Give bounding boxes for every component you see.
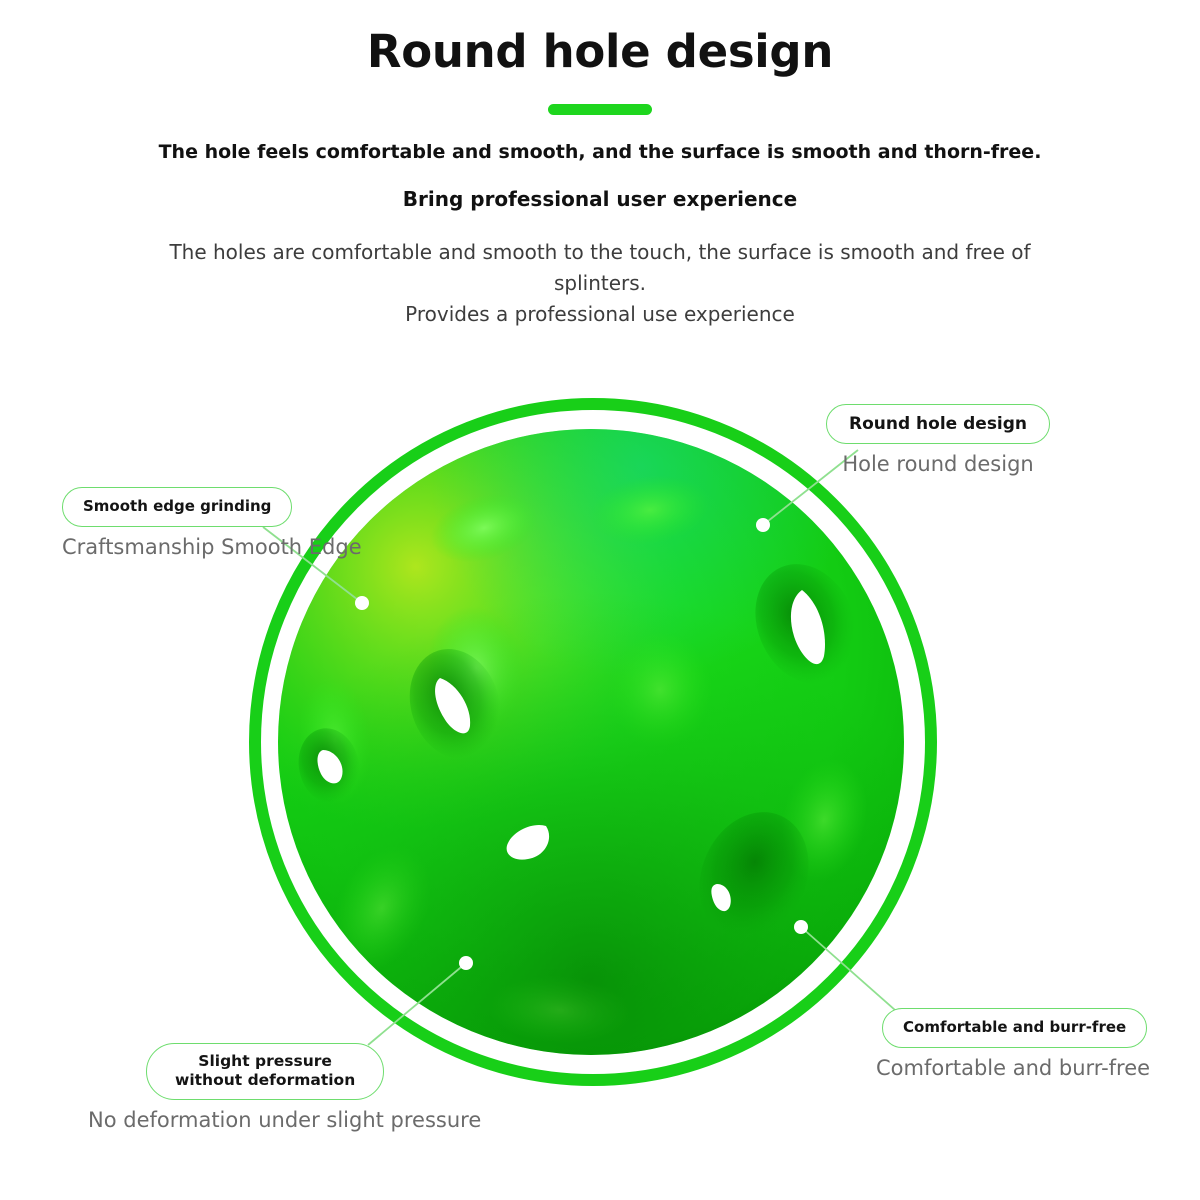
callout-round-hole-design-pill[interactable]: Round hole design bbox=[826, 404, 1050, 444]
callout-comfortable-burr-free[interactable]: Comfortable and burr-free Comfortable an… bbox=[882, 1008, 1150, 1081]
marker-burr-free bbox=[794, 920, 808, 934]
callout-round-hole-design[interactable]: Round hole design Hole round design bbox=[826, 404, 1050, 477]
marker-round-hole bbox=[756, 518, 770, 532]
callout-comfortable-burr-free-pill[interactable]: Comfortable and burr-free bbox=[882, 1008, 1147, 1048]
marker-slight-pressure bbox=[459, 956, 473, 970]
callout-slight-pressure[interactable]: Slight pressure without deformation No d… bbox=[146, 1043, 481, 1133]
callout-smooth-edge-grinding[interactable]: Smooth edge grinding Craftsmanship Smoot… bbox=[62, 487, 362, 560]
marker-smooth-edge bbox=[355, 596, 369, 610]
ball-bottom-shade bbox=[278, 429, 904, 1055]
callout-round-hole-design-caption: Hole round design bbox=[826, 452, 1050, 477]
ball-body-group bbox=[278, 429, 904, 1055]
callout-slight-pressure-pill[interactable]: Slight pressure without deformation bbox=[146, 1043, 384, 1100]
callout-comfortable-burr-free-caption: Comfortable and burr-free bbox=[876, 1056, 1150, 1081]
callout-smooth-edge-grinding-caption: Craftsmanship Smooth Edge bbox=[62, 535, 362, 560]
callout-slight-pressure-caption: No deformation under slight pressure bbox=[88, 1108, 481, 1133]
callout-smooth-edge-grinding-pill[interactable]: Smooth edge grinding bbox=[62, 487, 292, 527]
